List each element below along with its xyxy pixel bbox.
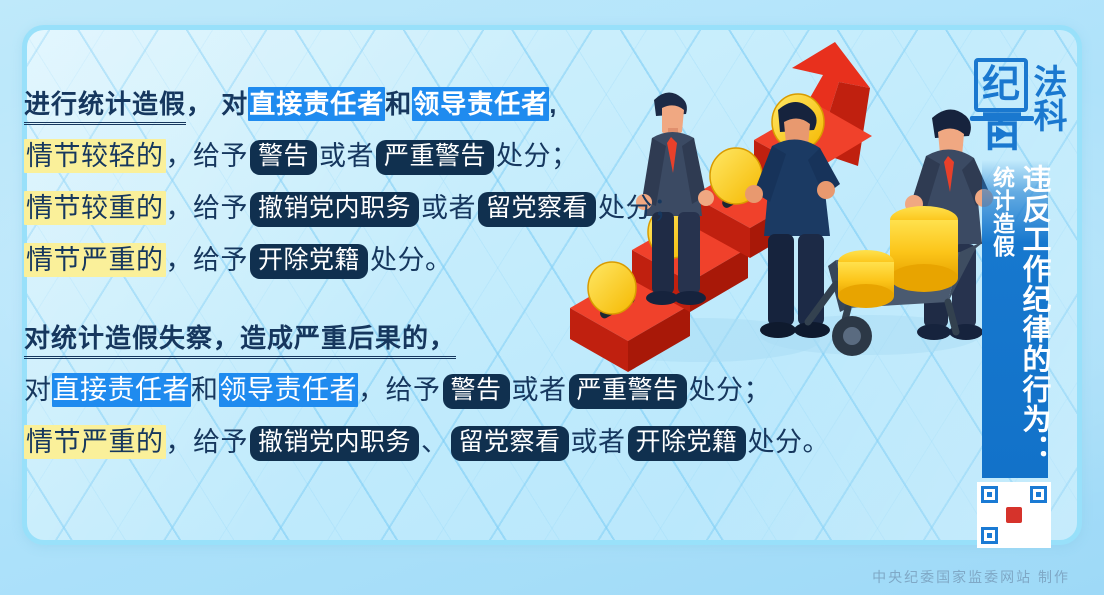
p1l4-plain-1: ，给予 [166, 245, 249, 275]
paragraph-1-heading: 进行统计造假 [24, 90, 186, 125]
p1l2-highlight-minor: 情节较轻的 [24, 139, 166, 173]
paragraph-1-line-4: 情节严重的，给予开除党籍处分。 [24, 234, 814, 286]
infographic-poster: 进行统计造假， 对直接责任者和领导责任者, 情节较轻的，给予警告或者严重警告处分… [0, 0, 1104, 595]
p2l3-badge-remove-party-post: 撤销党内职务 [250, 426, 419, 461]
p1l4-badge-expulsion: 开除党籍 [250, 244, 368, 279]
p1l1-plain-2: 和 [385, 89, 412, 119]
paragraph-2-heading: 对统计造假失察，造成严重后果的， [24, 324, 456, 359]
paragraph-2-line-2: 对直接责任者和领导责任者，给予警告或者严重警告处分； [24, 364, 814, 416]
p2l2-badge-warning: 警告 [443, 374, 510, 409]
paragraph-1: 进行统计造假， 对直接责任者和领导责任者, 情节较轻的，给予警告或者严重警告处分… [24, 78, 814, 286]
p1l2-plain-3: 处分； [496, 141, 579, 171]
p2l3-highlight-severe: 情节严重的 [24, 425, 166, 459]
p2l3-plain-3: 或者 [571, 427, 626, 457]
paragraph-2: 对统计造假失察，造成严重后果的， 对直接责任者和领导责任者，给予警告或者严重警告… [24, 312, 814, 468]
p2l3-badge-probation: 留党察看 [451, 426, 569, 461]
p2l2-plain-4: 或者 [512, 375, 567, 405]
p2l2-highlight-leader-responsible: 领导责任者 [219, 373, 359, 407]
paragraph-1-line-3: 情节较重的，给予撤销党内职务或者留党察看处分； [24, 182, 814, 234]
p2l3-badge-expulsion: 开除党籍 [628, 426, 746, 461]
p2l2-plain-2: 和 [191, 375, 219, 405]
p1l3-plain-1: ，给予 [166, 193, 249, 223]
p1l1-plain-3: , [549, 89, 557, 119]
qr-code[interactable] [977, 482, 1051, 548]
p1l1-highlight-leader-responsible: 领导责任者 [412, 87, 549, 121]
p2l2-plain-3: ，给予 [358, 375, 441, 405]
p1l3-badge-remove-party-post: 撤销党内职务 [250, 192, 419, 227]
p1l4-plain-2: 处分。 [370, 245, 453, 275]
play-triangle-icon [996, 126, 1009, 142]
p2l3-plain-2: 、 [421, 427, 449, 457]
p1l3-highlight-moderate: 情节较重的 [24, 191, 166, 225]
p1l3-plain-2: 或者 [421, 193, 476, 223]
p1l2-plain-1: ，给予 [166, 141, 249, 171]
p2l3-plain-1: ，给予 [166, 427, 249, 457]
paragraph-1-line-2: 情节较轻的，给予警告或者严重警告处分； [24, 130, 814, 182]
p1l3-badge-probation: 留党察看 [478, 192, 596, 227]
p1l1-highlight-direct-responsible: 直接责任者 [248, 87, 385, 121]
p2l2-badge-serious-warning: 严重警告 [569, 374, 687, 409]
banner-main-title: 违反工作纪律的行为： [1014, 164, 1048, 478]
p1l4-highlight-severe: 情节严重的 [24, 243, 166, 277]
logo-chars-fake: 法科 [1030, 64, 1064, 132]
banner-sub-title: 统计造假 [988, 164, 1014, 478]
right-vertical-banner: 违反工作纪律的行为： 统计造假 [982, 160, 1048, 478]
brand-logo-jifa-baike: 纪 百 法科 [968, 58, 1084, 164]
qr-eye-top-left [981, 486, 998, 503]
p2l2-plain-1: 对 [24, 375, 52, 405]
p2l2-plain-5: 处分； [689, 375, 772, 405]
body-text-column: 进行统计造假， 对直接责任者和领导责任者, 情节较轻的，给予警告或者严重警告处分… [24, 78, 814, 494]
p2l3-plain-4: 处分。 [748, 427, 831, 457]
qr-center-logo [1006, 507, 1022, 523]
qr-eye-top-right [1030, 486, 1047, 503]
logo-char-ji: 纪 [974, 58, 1028, 112]
qr-code-pattern [981, 486, 1047, 544]
footer-credit: 中央纪委国家监委网站 制作 [0, 567, 1104, 587]
p1l2-plain-2: 或者 [319, 141, 374, 171]
paragraph-1-line-1: 进行统计造假， 对直接责任者和领导责任者, [24, 78, 814, 130]
paragraph-2-line-3: 情节严重的，给予撤销党内职务、留党察看或者开除党籍处分。 [24, 416, 814, 468]
paragraph-2-line-1: 对统计造假失察，造成严重后果的， [24, 312, 814, 364]
p1l2-badge-warning: 警告 [250, 140, 317, 175]
p1l2-badge-serious-warning: 严重警告 [376, 140, 494, 175]
qr-eye-bottom-left [981, 527, 998, 544]
p2l2-highlight-direct-responsible: 直接责任者 [52, 373, 192, 407]
p1l1-plain-1: ， 对 [186, 89, 248, 119]
p1l3-plain-3: 处分； [598, 193, 681, 223]
